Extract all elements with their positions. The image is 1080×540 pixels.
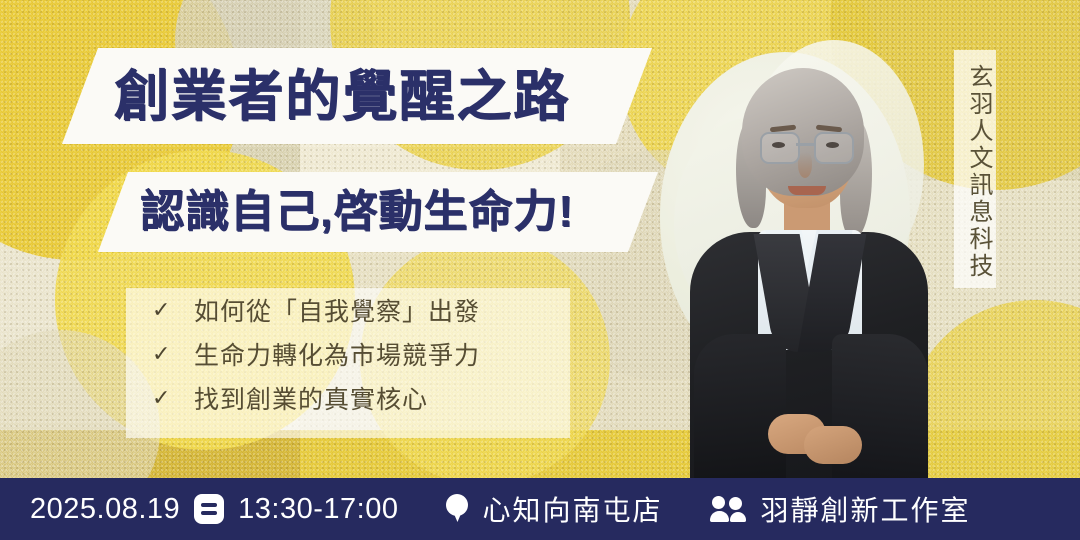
mouth — [788, 186, 826, 195]
bullet-panel: ✓ 如何從「自我覺察」出發 ✓ 生命力轉化為市場競爭力 ✓ 找到創業的真實核心 — [126, 288, 570, 438]
list-item-label: 生命力轉化為市場競爭力 — [194, 336, 480, 372]
glasses-lens — [814, 132, 854, 164]
page-title: 創業者的覺醒之路 — [114, 69, 570, 124]
event-date: 2025.08.19 — [30, 493, 180, 526]
list-item: ✓ 如何從「自我覺察」出發 — [152, 288, 570, 332]
list-item: ✓ 找到創業的真實核心 — [152, 376, 570, 420]
footer-bar: 2025.08.19 13:30-17:00 心知向南屯店 羽靜創新工作室 — [0, 478, 1080, 540]
event-venue: 心知向南屯店 — [482, 489, 662, 529]
jacket-sleeve — [694, 334, 786, 496]
people-icon-body — [730, 512, 746, 522]
company-name: 玄羽人文訊息科技 — [954, 50, 996, 288]
people-icon-head — [712, 496, 725, 509]
list-item-label: 如何從「自我覺察」出發 — [194, 292, 480, 328]
event-organizer: 羽靜創新工作室 — [760, 489, 970, 529]
event-poster: 創業者的覺醒之路 認識自己,啓動生命力! ✓ 如何從「自我覺察」出發 ✓ 生命力… — [0, 0, 1080, 540]
glasses-bridge — [796, 143, 814, 146]
check-icon: ✓ — [152, 343, 178, 365]
check-icon: ✓ — [152, 299, 178, 321]
location-pin-icon — [446, 494, 468, 524]
glasses-icon — [760, 132, 852, 162]
check-icon: ✓ — [152, 387, 178, 409]
people-icon-body — [710, 511, 729, 522]
speaker-photo — [648, 34, 934, 496]
list-item: ✓ 生命力轉化為市場競爭力 — [152, 332, 570, 376]
page-subtitle: 認識自己,啓動生命力! — [140, 190, 574, 234]
hand — [804, 426, 862, 464]
speaker-portrait — [648, 34, 934, 496]
jacket-sleeve — [832, 334, 928, 496]
calendar-icon — [194, 494, 224, 524]
title-banner: 創業者的覺醒之路 — [62, 48, 652, 144]
footer-content: 2025.08.19 13:30-17:00 心知向南屯店 羽靜創新工作室 — [30, 489, 971, 529]
list-item-label: 找到創業的真實核心 — [194, 380, 428, 416]
glasses-lens — [760, 132, 800, 164]
people-icon — [710, 496, 746, 522]
subtitle-banner: 認識自己,啓動生命力! — [98, 172, 658, 252]
event-time: 13:30-17:00 — [238, 493, 398, 526]
people-icon-head — [729, 497, 742, 510]
